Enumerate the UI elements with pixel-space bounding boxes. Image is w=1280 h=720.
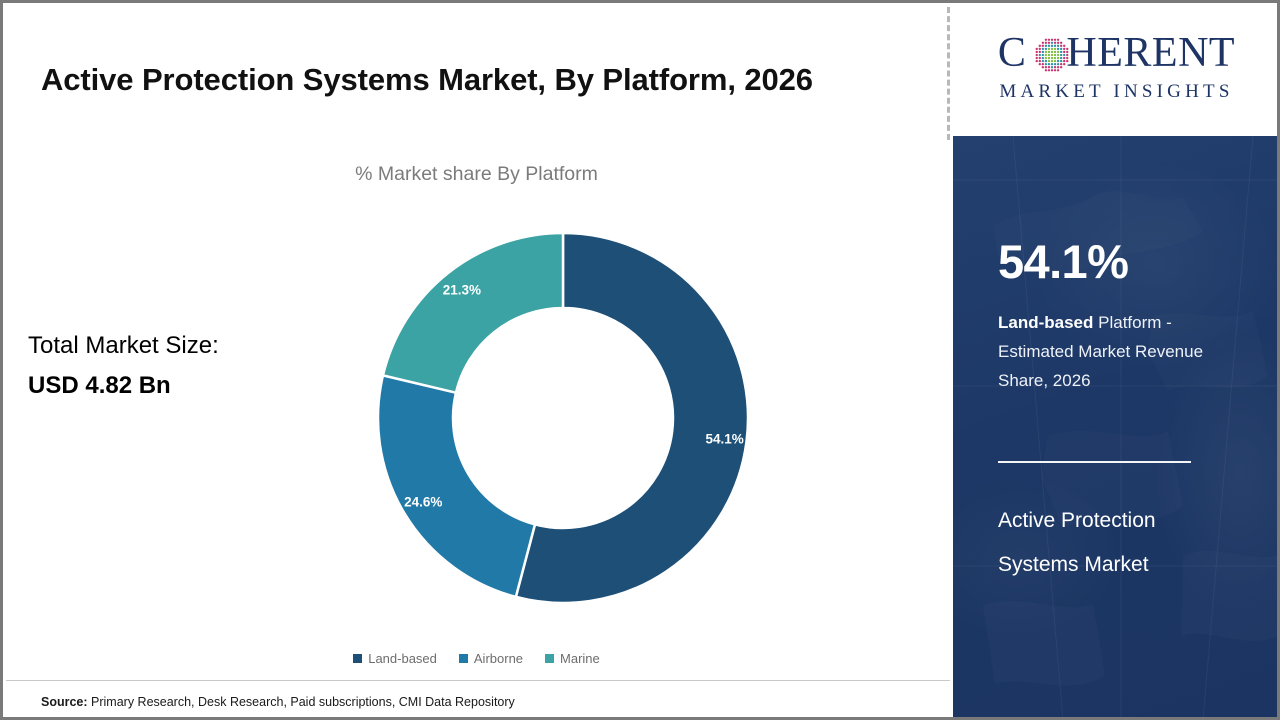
total-market-size: Total Market Size: USD 4.82 Bn (28, 326, 219, 406)
globe-dot (1041, 45, 1043, 47)
globe-dot (1053, 66, 1055, 68)
globe-dot (1050, 69, 1052, 71)
globe-dot (1044, 39, 1046, 41)
legend-label: Airborne (474, 651, 523, 666)
globe-dot (1035, 57, 1037, 59)
globe-dot (1035, 51, 1037, 53)
globe-dot (1053, 69, 1055, 71)
globe-dot (1063, 45, 1065, 47)
globe-dot (1038, 45, 1040, 47)
company-logo: CHERENT MARKET INSIGHTS (953, 6, 1280, 136)
globe-dot (1066, 51, 1068, 53)
globe-dot (1053, 51, 1055, 53)
globe-icon (1032, 35, 1072, 75)
globe-dot (1041, 63, 1043, 65)
globe-dot (1041, 48, 1043, 50)
globe-dot (1041, 66, 1043, 68)
source-text: Primary Research, Desk Research, Paid su… (88, 695, 515, 709)
globe-dot (1053, 42, 1055, 44)
globe-dot (1050, 42, 1052, 44)
globe-dot (1047, 66, 1049, 68)
vertical-dashed-divider (947, 7, 950, 140)
globe-dot (1038, 63, 1040, 65)
globe-dot (1047, 54, 1049, 56)
globe-dot (1056, 54, 1058, 56)
globe-dot (1044, 57, 1046, 59)
panel-divider (998, 461, 1191, 463)
legend-item[interactable]: Land-based (353, 651, 437, 666)
legend-label: Marine (560, 651, 600, 666)
globe-dot (1047, 51, 1049, 53)
globe-dot (1038, 60, 1040, 62)
globe-dot (1063, 54, 1065, 56)
donut-slice-marine (383, 233, 563, 393)
stat-description: Land-based Platform - Estimated Market R… (998, 308, 1233, 395)
globe-dot (1056, 51, 1058, 53)
logo-letters-herent: HERENT (1066, 30, 1235, 76)
legend-swatch-icon (545, 654, 554, 663)
globe-dot (1035, 60, 1037, 62)
globe-dot (1035, 54, 1037, 56)
globe-dot (1038, 57, 1040, 59)
globe-dot (1050, 48, 1052, 50)
globe-dot (1053, 45, 1055, 47)
logo-wordmark: CHERENT (971, 32, 1263, 74)
globe-dot (1044, 60, 1046, 62)
globe-dot (1041, 54, 1043, 56)
globe-dot (1063, 63, 1065, 65)
globe-dot (1044, 69, 1046, 71)
highlight-panel-content: 54.1% Land-based Platform - Estimated Ma… (998, 136, 1238, 720)
globe-dot (1044, 45, 1046, 47)
globe-dot (1047, 45, 1049, 47)
globe-dot (1053, 57, 1055, 59)
source-note: Source: Primary Research, Desk Research,… (41, 695, 515, 709)
globe-dot (1047, 39, 1049, 41)
globe-dot (1053, 48, 1055, 50)
globe-dot (1063, 60, 1065, 62)
stat-description-strong: Land-based (998, 313, 1093, 332)
logo-letter-c: C (998, 30, 1027, 76)
donut-chart: 54.1%24.6%21.3% (378, 233, 748, 603)
globe-dot (1063, 51, 1065, 53)
globe-dot (1059, 51, 1061, 53)
legend-swatch-icon (459, 654, 468, 663)
globe-dot (1044, 48, 1046, 50)
globe-dot (1047, 48, 1049, 50)
globe-dot (1047, 69, 1049, 71)
globe-dot (1050, 51, 1052, 53)
globe-dot (1056, 48, 1058, 50)
globe-dot (1056, 66, 1058, 68)
globe-dot (1063, 48, 1065, 50)
globe-dot (1047, 63, 1049, 65)
total-market-size-label: Total Market Size: (28, 326, 219, 366)
source-divider (6, 680, 950, 681)
globe-dot (1038, 54, 1040, 56)
panel-market-name: Active Protection Systems Market (998, 499, 1238, 587)
globe-dot (1056, 45, 1058, 47)
globe-dot (1044, 51, 1046, 53)
globe-dot (1047, 42, 1049, 44)
globe-dot (1059, 57, 1061, 59)
total-market-size-value: USD 4.82 Bn (28, 366, 219, 406)
donut-label-marine: 21.3% (443, 283, 481, 298)
chart-legend: Land-basedAirborneMarine (3, 651, 950, 666)
globe-dot (1059, 48, 1061, 50)
globe-dot (1059, 54, 1061, 56)
globe-dot (1056, 63, 1058, 65)
globe-dot (1041, 57, 1043, 59)
globe-dot (1059, 66, 1061, 68)
donut-label-airborne: 24.6% (404, 494, 442, 509)
globe-dot (1066, 48, 1068, 50)
donut-label-land-based: 54.1% (706, 431, 744, 446)
globe-dot (1050, 66, 1052, 68)
globe-dot (1056, 39, 1058, 41)
globe-dot (1038, 51, 1040, 53)
donut-slice-airborne (378, 375, 535, 597)
chart-panel: Active Protection Systems Market, By Pla… (3, 3, 950, 717)
globe-dot (1056, 57, 1058, 59)
globe-dot (1044, 54, 1046, 56)
legend-swatch-icon (353, 654, 362, 663)
globe-dot (1056, 69, 1058, 71)
globe-dot (1059, 42, 1061, 44)
globe-dot (1053, 60, 1055, 62)
globe-dot (1044, 42, 1046, 44)
globe-dot (1044, 63, 1046, 65)
globe-dot (1038, 48, 1040, 50)
infographic-page: Active Protection Systems Market, By Pla… (0, 0, 1280, 720)
globe-dot (1066, 57, 1068, 59)
globe-dot (1044, 66, 1046, 68)
globe-dot (1041, 51, 1043, 53)
globe-dot (1066, 60, 1068, 62)
highlight-panel: 54.1% Land-based Platform - Estimated Ma… (953, 136, 1280, 720)
globe-dot (1050, 54, 1052, 56)
logo-tagline: MARKET INSIGHTS (971, 81, 1263, 103)
globe-dot (1053, 39, 1055, 41)
stat-value: 54.1% (998, 238, 1128, 285)
globe-dot (1053, 54, 1055, 56)
globe-dot (1059, 63, 1061, 65)
globe-dot (1059, 60, 1061, 62)
globe-dot (1047, 57, 1049, 59)
logo-inner: CHERENT MARKET INSIGHTS (971, 29, 1263, 113)
globe-dot (1053, 63, 1055, 65)
globe-dot (1035, 48, 1037, 50)
donut-slices (378, 233, 748, 603)
source-label: Source: (41, 695, 88, 709)
globe-dot (1063, 57, 1065, 59)
globe-dot (1050, 45, 1052, 47)
legend-label: Land-based (368, 651, 437, 666)
globe-dot (1050, 39, 1052, 41)
page-title: Active Protection Systems Market, By Pla… (41, 55, 911, 105)
globe-dot (1050, 60, 1052, 62)
globe-dot (1050, 63, 1052, 65)
donut-chart-svg: 54.1%24.6%21.3% (378, 233, 748, 603)
globe-dot (1047, 60, 1049, 62)
globe-dot (1050, 57, 1052, 59)
globe-dot (1059, 45, 1061, 47)
legend-item[interactable]: Airborne (459, 651, 523, 666)
legend-item[interactable]: Marine (545, 651, 600, 666)
globe-dot (1056, 42, 1058, 44)
globe-dot (1041, 60, 1043, 62)
globe-dot (1041, 42, 1043, 44)
chart-subtitle: % Market share By Platform (3, 163, 950, 186)
globe-dot (1066, 54, 1068, 56)
globe-dot (1056, 60, 1058, 62)
